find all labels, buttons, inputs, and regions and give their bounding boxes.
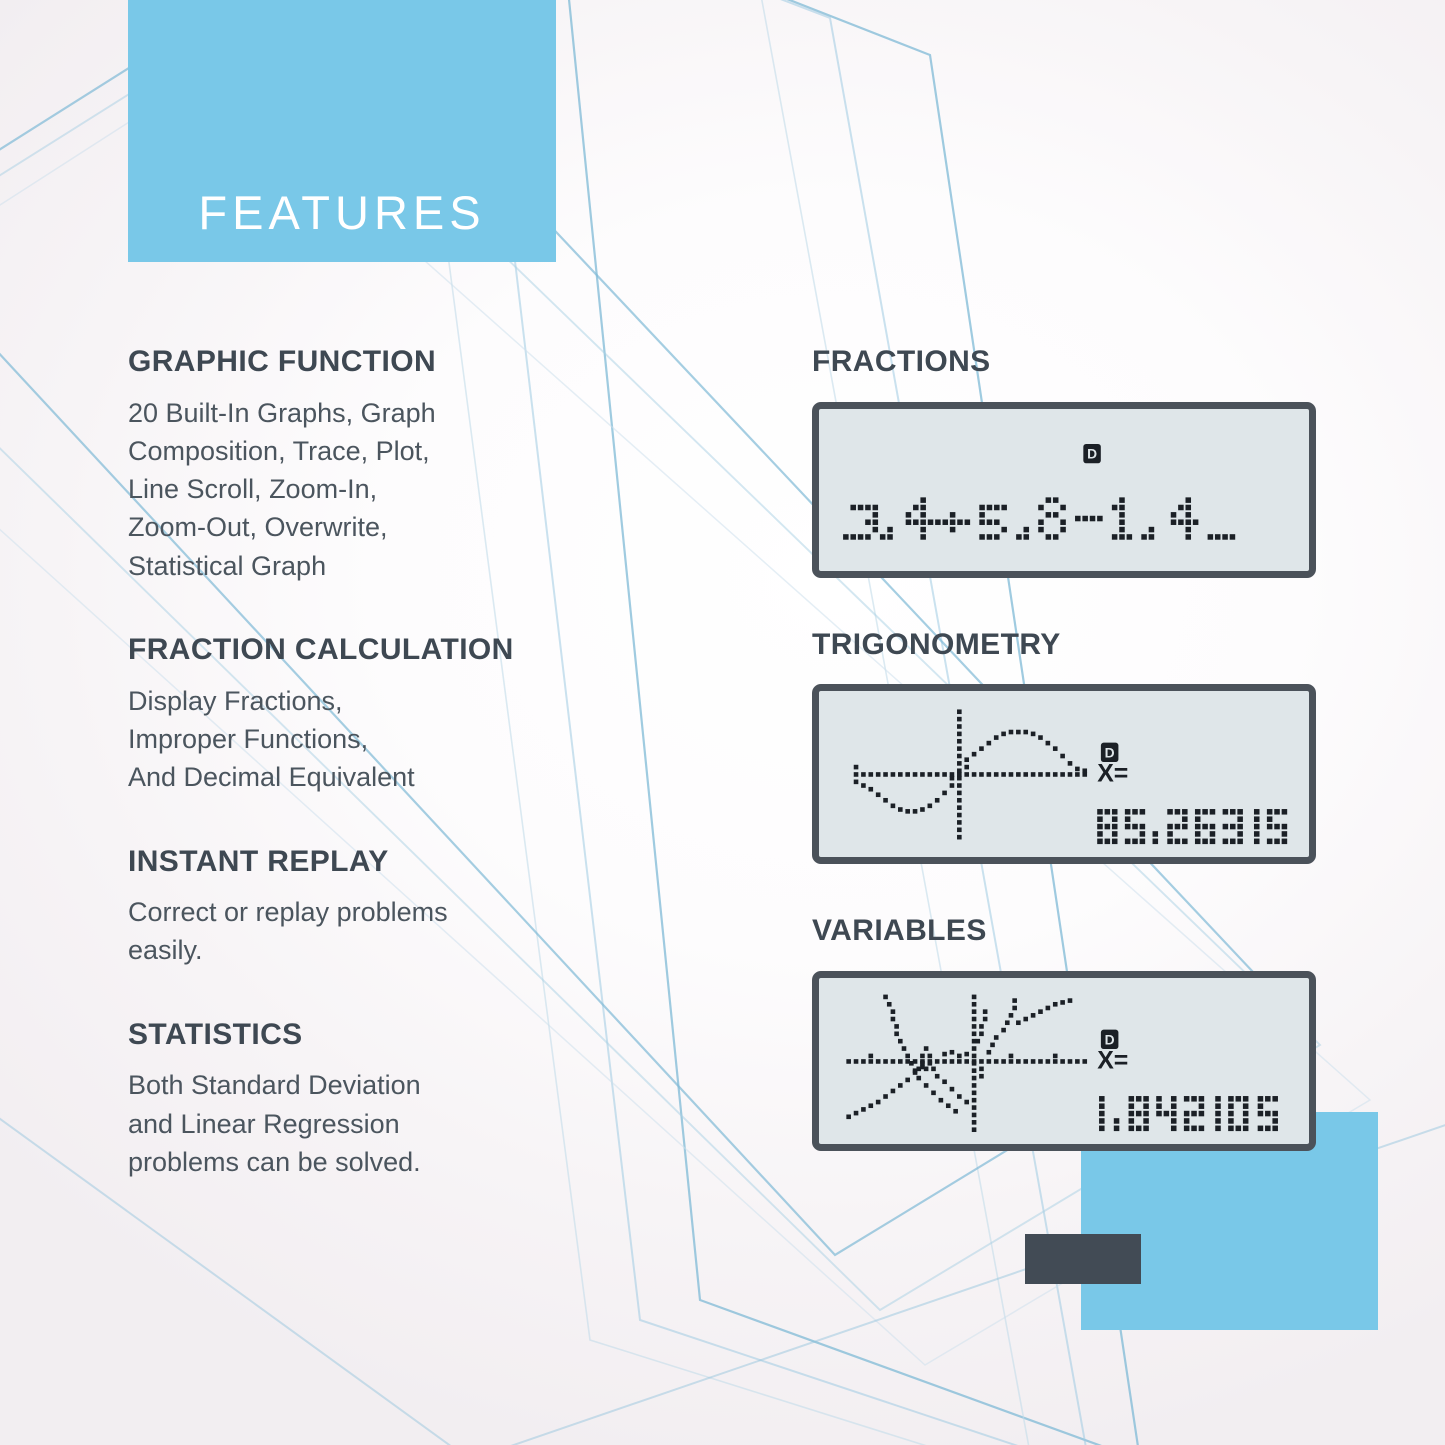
features-header-block: FEATURES — [128, 0, 556, 262]
result-label-variables: X= — [1097, 1046, 1128, 1074]
mode-indicator-d: D — [1083, 443, 1100, 462]
features-list-left: GRAPHIC FUNCTION 20 Built-In Graphs, Gra… — [128, 345, 728, 1181]
feature-title: TRIGONOMETRY — [812, 628, 1322, 663]
result-label-trigonometry: X= — [1097, 759, 1128, 787]
calculator-display-variables: D X= — [812, 971, 1316, 1151]
feature-item-instant-replay: INSTANT REPLAY Correct or replay problem… — [128, 845, 728, 970]
feature-title: GRAPHIC FUNCTION — [128, 345, 728, 380]
features-poster: FEATURES GRAPHIC FUNCTION 20 Built-In Gr… — [0, 0, 1445, 1445]
feature-item-trigonometry: TRIGONOMETRY — [812, 628, 1322, 865]
feature-title: STATISTICS — [128, 1018, 728, 1053]
calculator-body-tab — [1025, 1234, 1141, 1284]
calculator-display-fractions: D — [812, 402, 1316, 578]
feature-description: Correct or replay problems easily. — [128, 893, 728, 970]
lcd-content-variables: D X= — [819, 978, 1309, 1144]
feature-description: 20 Built-In Graphs, Graph Composition, T… — [128, 394, 728, 586]
lcd-content-trigonometry: D X= — [819, 691, 1309, 857]
page-title: FEATURES — [198, 189, 485, 236]
linear-regression-graph-dots — [846, 994, 1087, 1131]
feature-item-graphic-function: GRAPHIC FUNCTION 20 Built-In Graphs, Gra… — [128, 345, 728, 585]
svg-text:D: D — [1087, 446, 1097, 461]
feature-item-statistics: STATISTICS Both Standard Deviation and L… — [128, 1018, 728, 1181]
feature-title: INSTANT REPLAY — [128, 845, 728, 880]
features-list-right: FRACTIONS D — [812, 345, 1322, 1151]
feature-description: Both Standard Deviation and Linear Regre… — [128, 1066, 728, 1181]
feature-description: Display Fractions, Improper Functions, A… — [128, 682, 728, 797]
feature-item-variables: VARIABLES — [812, 914, 1322, 1151]
feature-title: FRACTIONS — [812, 345, 1322, 380]
lcd-content-fractions: D — [819, 409, 1309, 571]
calculator-display-trigonometry: D X= — [812, 684, 1316, 864]
svg-text:D: D — [1105, 1031, 1115, 1047]
feature-title: FRACTION CALCULATION — [128, 633, 728, 668]
sine-wave-graph-dots — [854, 709, 1087, 839]
feature-item-fractions: FRACTIONS D — [812, 345, 1322, 578]
result-value-trigonometry-dots — [1097, 809, 1287, 844]
result-value-variables-dots — [1099, 1096, 1278, 1131]
feature-item-fraction-calculation: FRACTION CALCULATION Display Fractions, … — [128, 633, 728, 796]
svg-text:D: D — [1105, 744, 1115, 760]
lcd-expression-dots — [843, 497, 1235, 539]
feature-title: VARIABLES — [812, 914, 1322, 949]
